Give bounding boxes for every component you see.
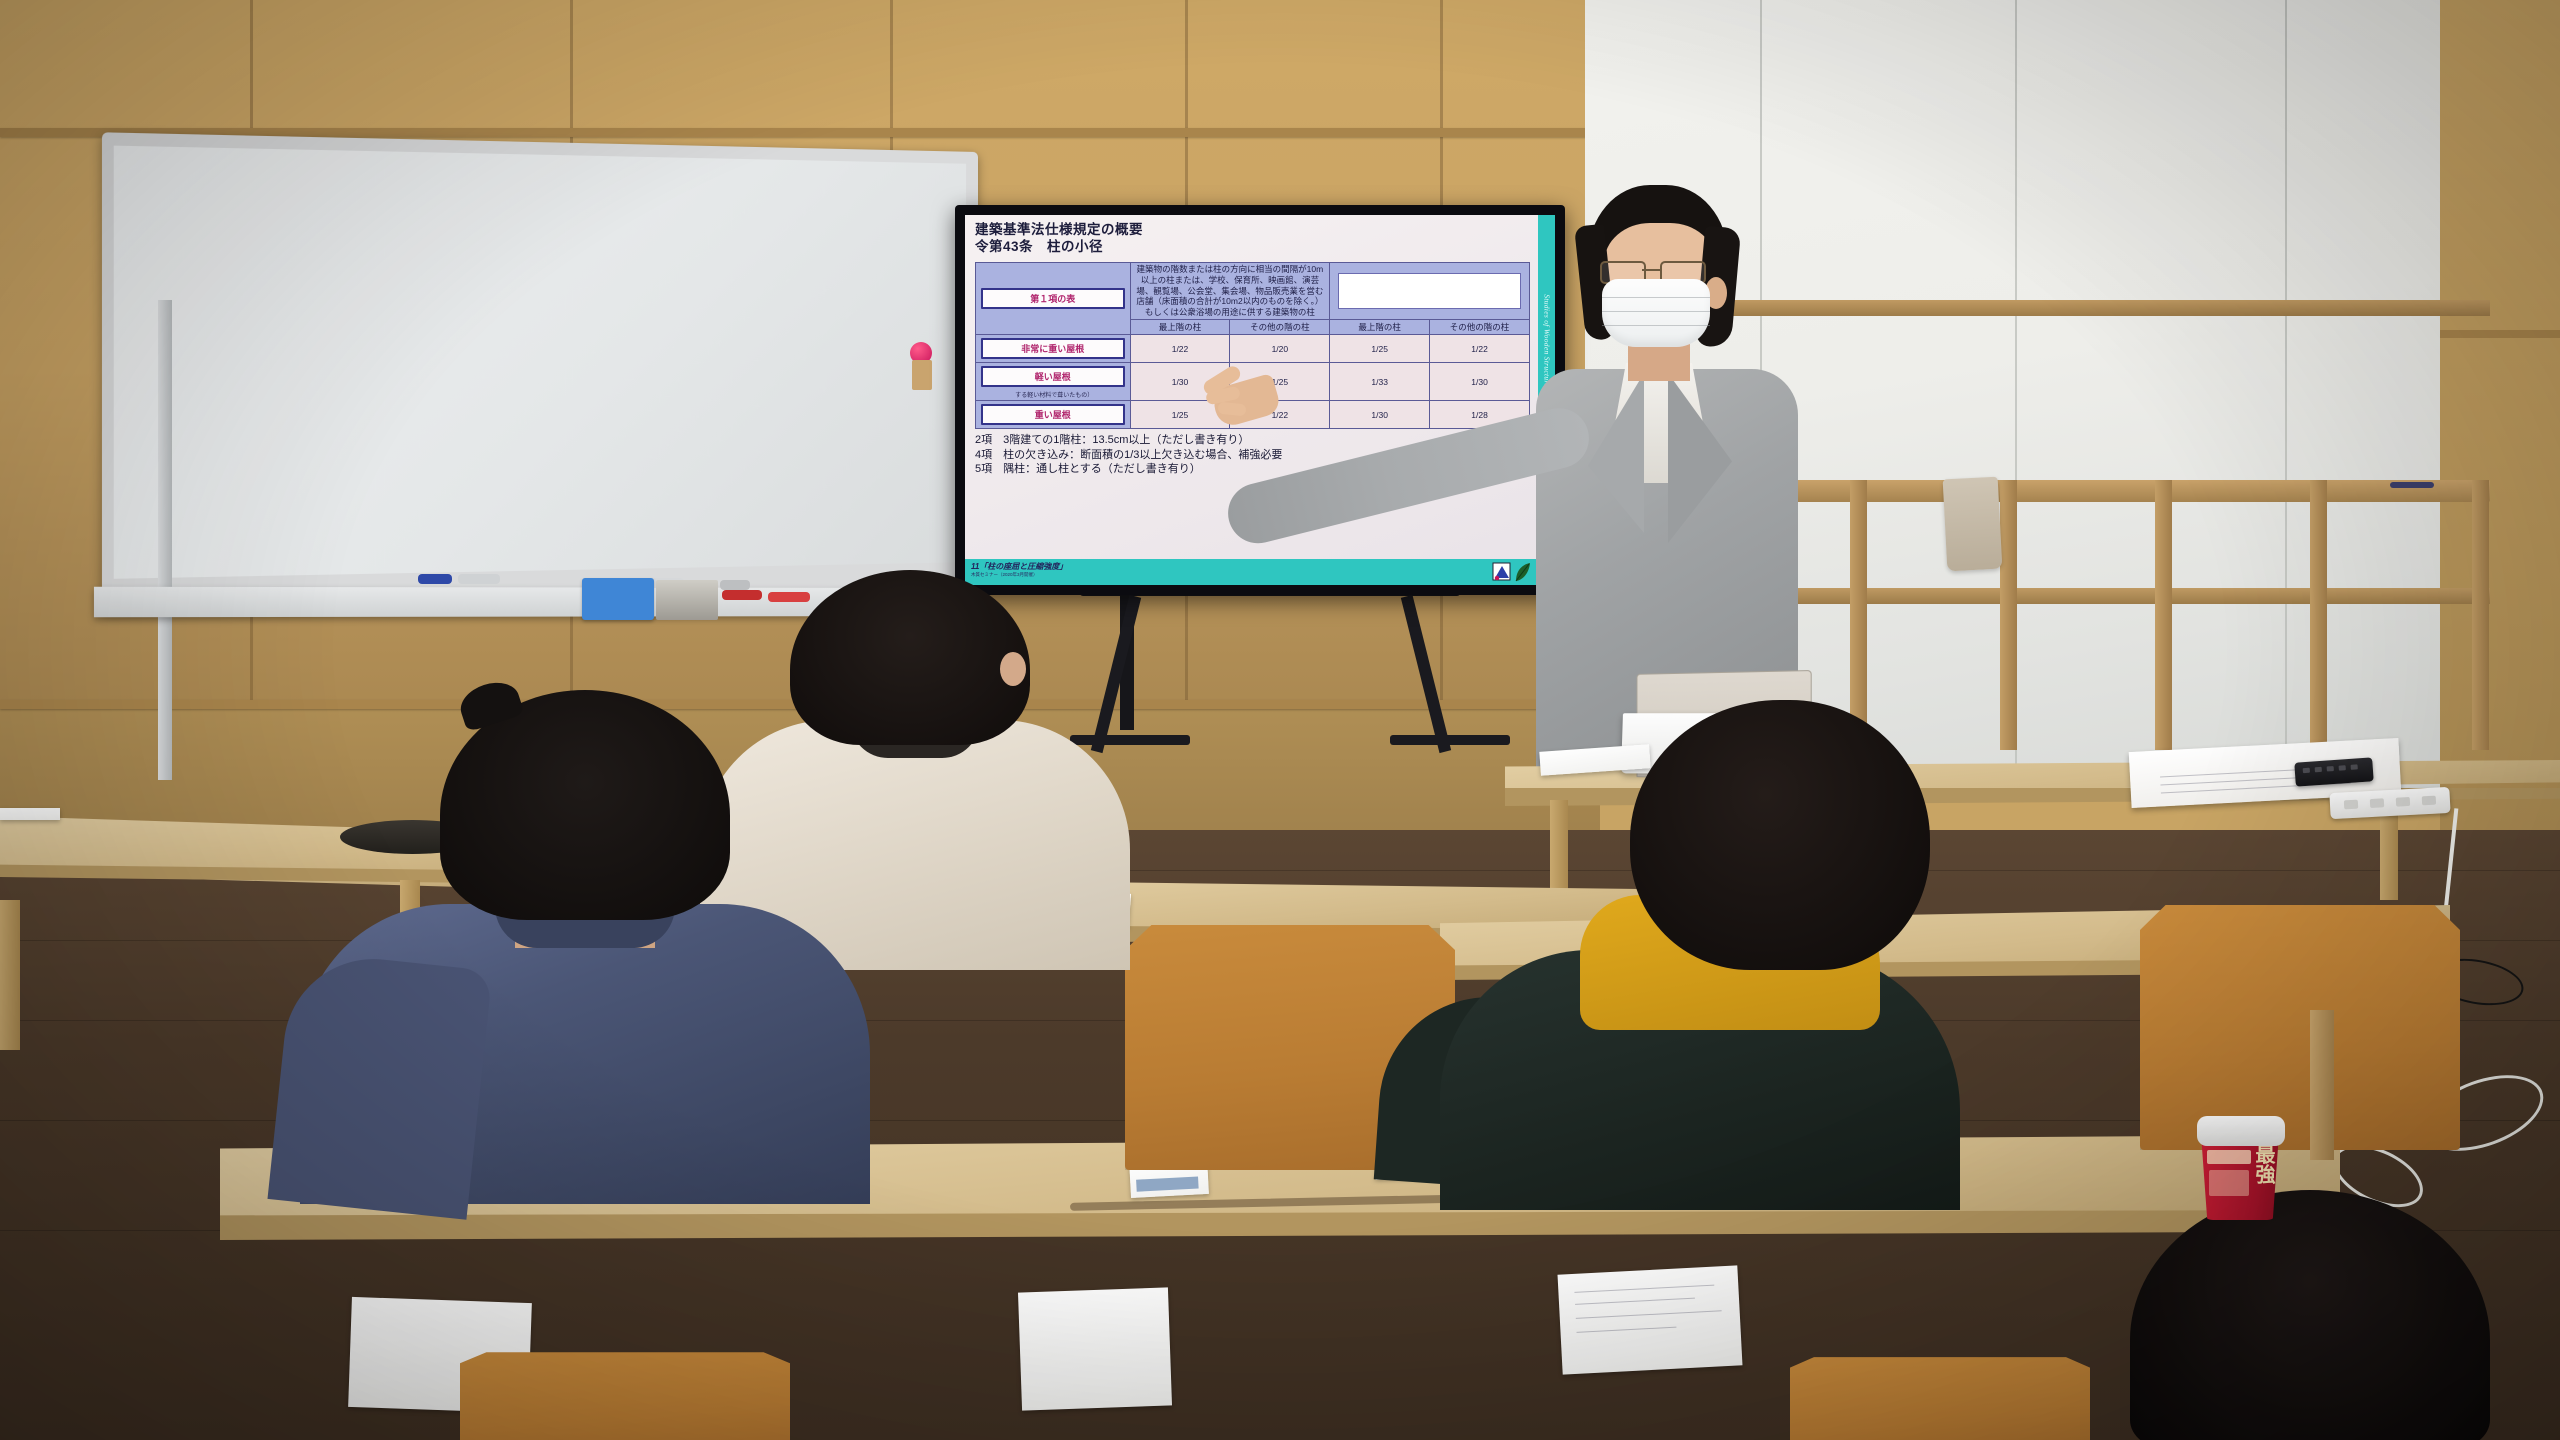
diagram-thumbnail <box>1338 273 1521 309</box>
paper-back-left <box>0 808 60 820</box>
row-label-0: 非常に重い屋根 <box>981 338 1125 359</box>
table-description: 建築物の階数または柱の方向に相当の間隔が10m以上の柱または、学校、保育所、映画… <box>1130 262 1330 319</box>
blue-marker[interactable] <box>418 574 452 584</box>
glasses-icon <box>1600 261 1718 281</box>
subheader-2: 最上階の柱 <box>1330 320 1430 335</box>
whiteboard[interactable] <box>168 152 978 592</box>
cell-0-1: 1/20 <box>1230 335 1330 363</box>
slide-title-line2: 令第43条 柱の小径 <box>975 239 1530 256</box>
power-strip <box>2329 787 2450 819</box>
cell-1-2: 1/33 <box>1330 363 1430 401</box>
slide-title-line1: 建築基準法仕様規定の概要 <box>975 222 1530 239</box>
cup-label-band <box>2207 1150 2251 1164</box>
cup-label-band-2 <box>2209 1170 2249 1196</box>
lecture-room-photo: 建築基準法仕様規定の概要 令第43条 柱の小径 第１項の表 建築物の階数または柱… <box>0 0 2560 1440</box>
cell-2-2: 1/30 <box>1330 401 1430 429</box>
chair-front-left[interactable] <box>460 1350 790 1440</box>
student-right <box>1500 700 1940 1130</box>
face-mask <box>1602 279 1710 347</box>
cloth-towel <box>1943 477 2003 572</box>
student-center-ear <box>1000 652 1026 686</box>
chair-right[interactable] <box>2140 900 2460 1150</box>
student-front-left <box>300 690 860 1170</box>
cell-0-2: 1/25 <box>1330 335 1430 363</box>
student-front-right-hair <box>2130 1190 2490 1440</box>
lattice-beam <box>1700 300 2490 316</box>
table-row: 非常に重い屋根 1/22 1/20 1/25 1/22 <box>976 335 1530 363</box>
subheader-1: その他の階の柱 <box>1230 320 1330 335</box>
handout-front-center <box>1018 1287 1172 1410</box>
handout-front-right <box>1558 1265 1743 1374</box>
student-front-right <box>2090 1190 2490 1440</box>
subheader-0: 最上階の柱 <box>1130 320 1230 335</box>
presenter-hand <box>1200 365 1286 427</box>
tv-foot-right <box>1390 735 1510 745</box>
row-note-1: する軽い材料で葺いたもの） <box>1012 393 1093 399</box>
marker-pen[interactable] <box>2390 482 2434 488</box>
student-front-left-shoulder <box>267 950 492 1220</box>
table-header-chip: 第１項の表 <box>981 288 1125 309</box>
blue-eraser[interactable] <box>582 578 654 620</box>
table-leg <box>0 900 20 1050</box>
row-label-1: 軽い屋根 <box>981 366 1125 387</box>
student-right-hair <box>1630 700 1930 970</box>
cup-kanji-text: 最強 <box>2254 1144 2273 1184</box>
silver-marker[interactable] <box>458 574 500 584</box>
whiteboard-leg-left <box>158 300 172 780</box>
chair-leg <box>2310 1010 2334 1160</box>
cell-0-0: 1/22 <box>1130 335 1230 363</box>
row-label-2: 重い屋根 <box>981 404 1125 425</box>
paper-cup[interactable]: 最強 <box>2197 1108 2285 1220</box>
chair-front-right[interactable] <box>1790 1355 2090 1440</box>
magnet-clip <box>912 360 932 390</box>
cup-lid <box>2197 1116 2285 1146</box>
